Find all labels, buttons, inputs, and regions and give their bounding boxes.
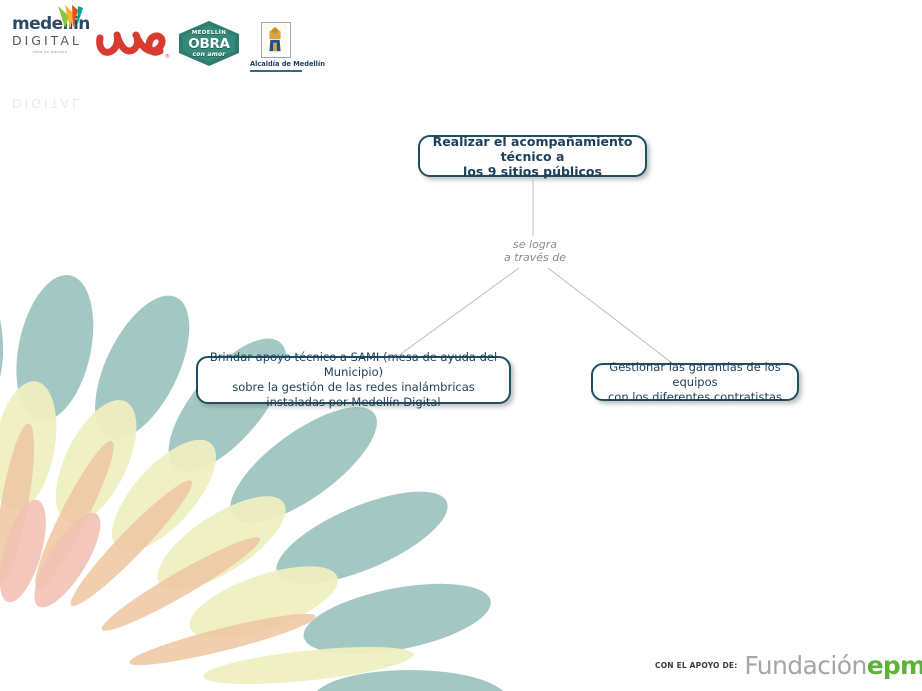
- fundacion-epm-wordmark-secondary: epm: [867, 653, 922, 678]
- footer-sponsor-prefix: CON EL APOYO DE:: [655, 661, 737, 670]
- fundacion-epm-wordmark-primary: Fundación: [744, 653, 866, 678]
- mindmap-child-label-apoyo-tecnico-sami: Brindar apoyo técnico a SAMI (mesa de ay…: [198, 350, 509, 410]
- mindmap-child-node-apoyo-tecnico-sami[interactable]: Brindar apoyo técnico a SAMI (mesa de ay…: [196, 356, 511, 404]
- footer-sponsor: CON EL APOYO DE: Fundación epm ®: [655, 648, 922, 682]
- mindmap-connector-lines: [0, 0, 922, 691]
- mindmap-child-node-garantias-equipos[interactable]: Gestionar las garantías de los equipos c…: [591, 363, 799, 401]
- mindmap-root-label: Realizar el acompañamiento técnico a los…: [420, 134, 645, 179]
- mindmap-diagram: Realizar el acompañamiento técnico a los…: [0, 0, 922, 691]
- mindmap-edge-label: se logra a través de: [470, 238, 600, 264]
- mindmap-root-node[interactable]: Realizar el acompañamiento técnico a los…: [418, 135, 647, 177]
- slide-canvas: medellin DIGITAL todo es posible ® MEDEL…: [0, 0, 922, 691]
- mindmap-child-label-garantias-equipos: Gestionar las garantías de los equipos c…: [593, 360, 797, 405]
